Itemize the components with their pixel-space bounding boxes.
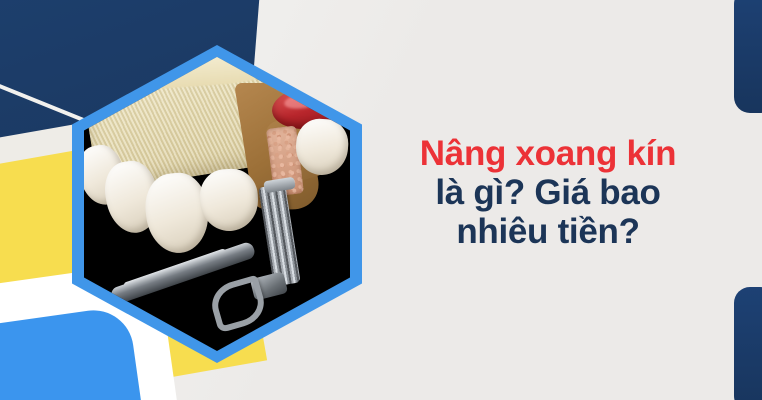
headline: Nâng xoang kín là gì? Giá bao nhiêu tiền… (383, 134, 713, 252)
hexagon-image-frame (72, 45, 362, 363)
headline-line-3: nhiêu tiền? (383, 212, 713, 251)
headline-line-2: là gì? Giá bao (383, 173, 713, 212)
banner-root: Nâng xoang kín là gì? Giá bao nhiêu tiền… (0, 0, 762, 400)
decor-edge-pill-bottom (734, 287, 762, 400)
molar-tooth-graphic (142, 170, 212, 256)
headline-line-1: Nâng xoang kín (383, 134, 713, 173)
decor-edge-pill-top (734, 0, 762, 113)
